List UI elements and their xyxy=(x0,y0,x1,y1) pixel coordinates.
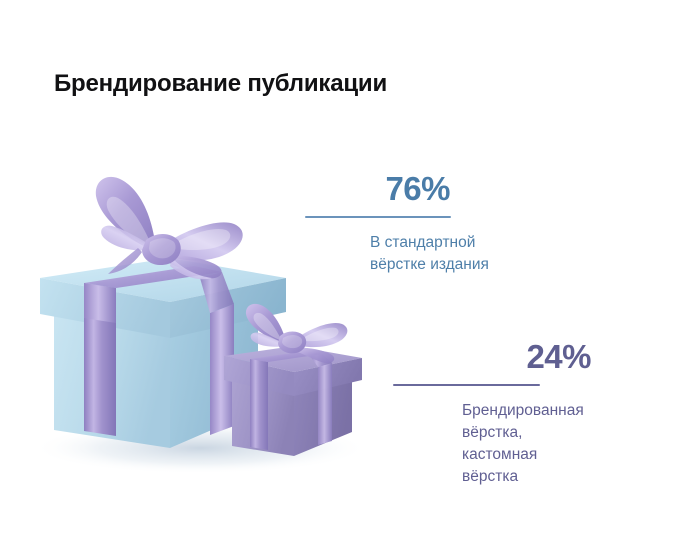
stat-caption-standard-line-1: В стандартной xyxy=(370,232,495,254)
stat-value-branded: 24% xyxy=(393,340,591,373)
stat-block-standard: 76% В стандартной вёрстке издания xyxy=(305,172,495,276)
stat-caption-branded: Брендированная вёрстка, кастомная вёрстк… xyxy=(393,400,593,488)
stat-caption-standard: В стандартной вёрстке издания xyxy=(305,232,495,276)
stat-caption-branded-line-1: Брендированная xyxy=(462,400,593,422)
stat-caption-standard-line-2: вёрстке издания xyxy=(370,254,495,276)
stat-caption-branded-line-2: вёрстка, кастомная xyxy=(462,422,593,466)
stat-divider-branded xyxy=(393,384,540,386)
stat-divider-standard xyxy=(305,216,451,218)
stat-caption-branded-line-3: вёрстка xyxy=(462,466,593,488)
slide-canvas: Брендирование публикации xyxy=(0,0,700,538)
stat-value-standard: 76% xyxy=(305,172,495,205)
stat-block-branded: 24% Брендированная вёрстка, кастомная вё… xyxy=(393,340,593,488)
page-title: Брендирование публикации xyxy=(54,70,387,98)
